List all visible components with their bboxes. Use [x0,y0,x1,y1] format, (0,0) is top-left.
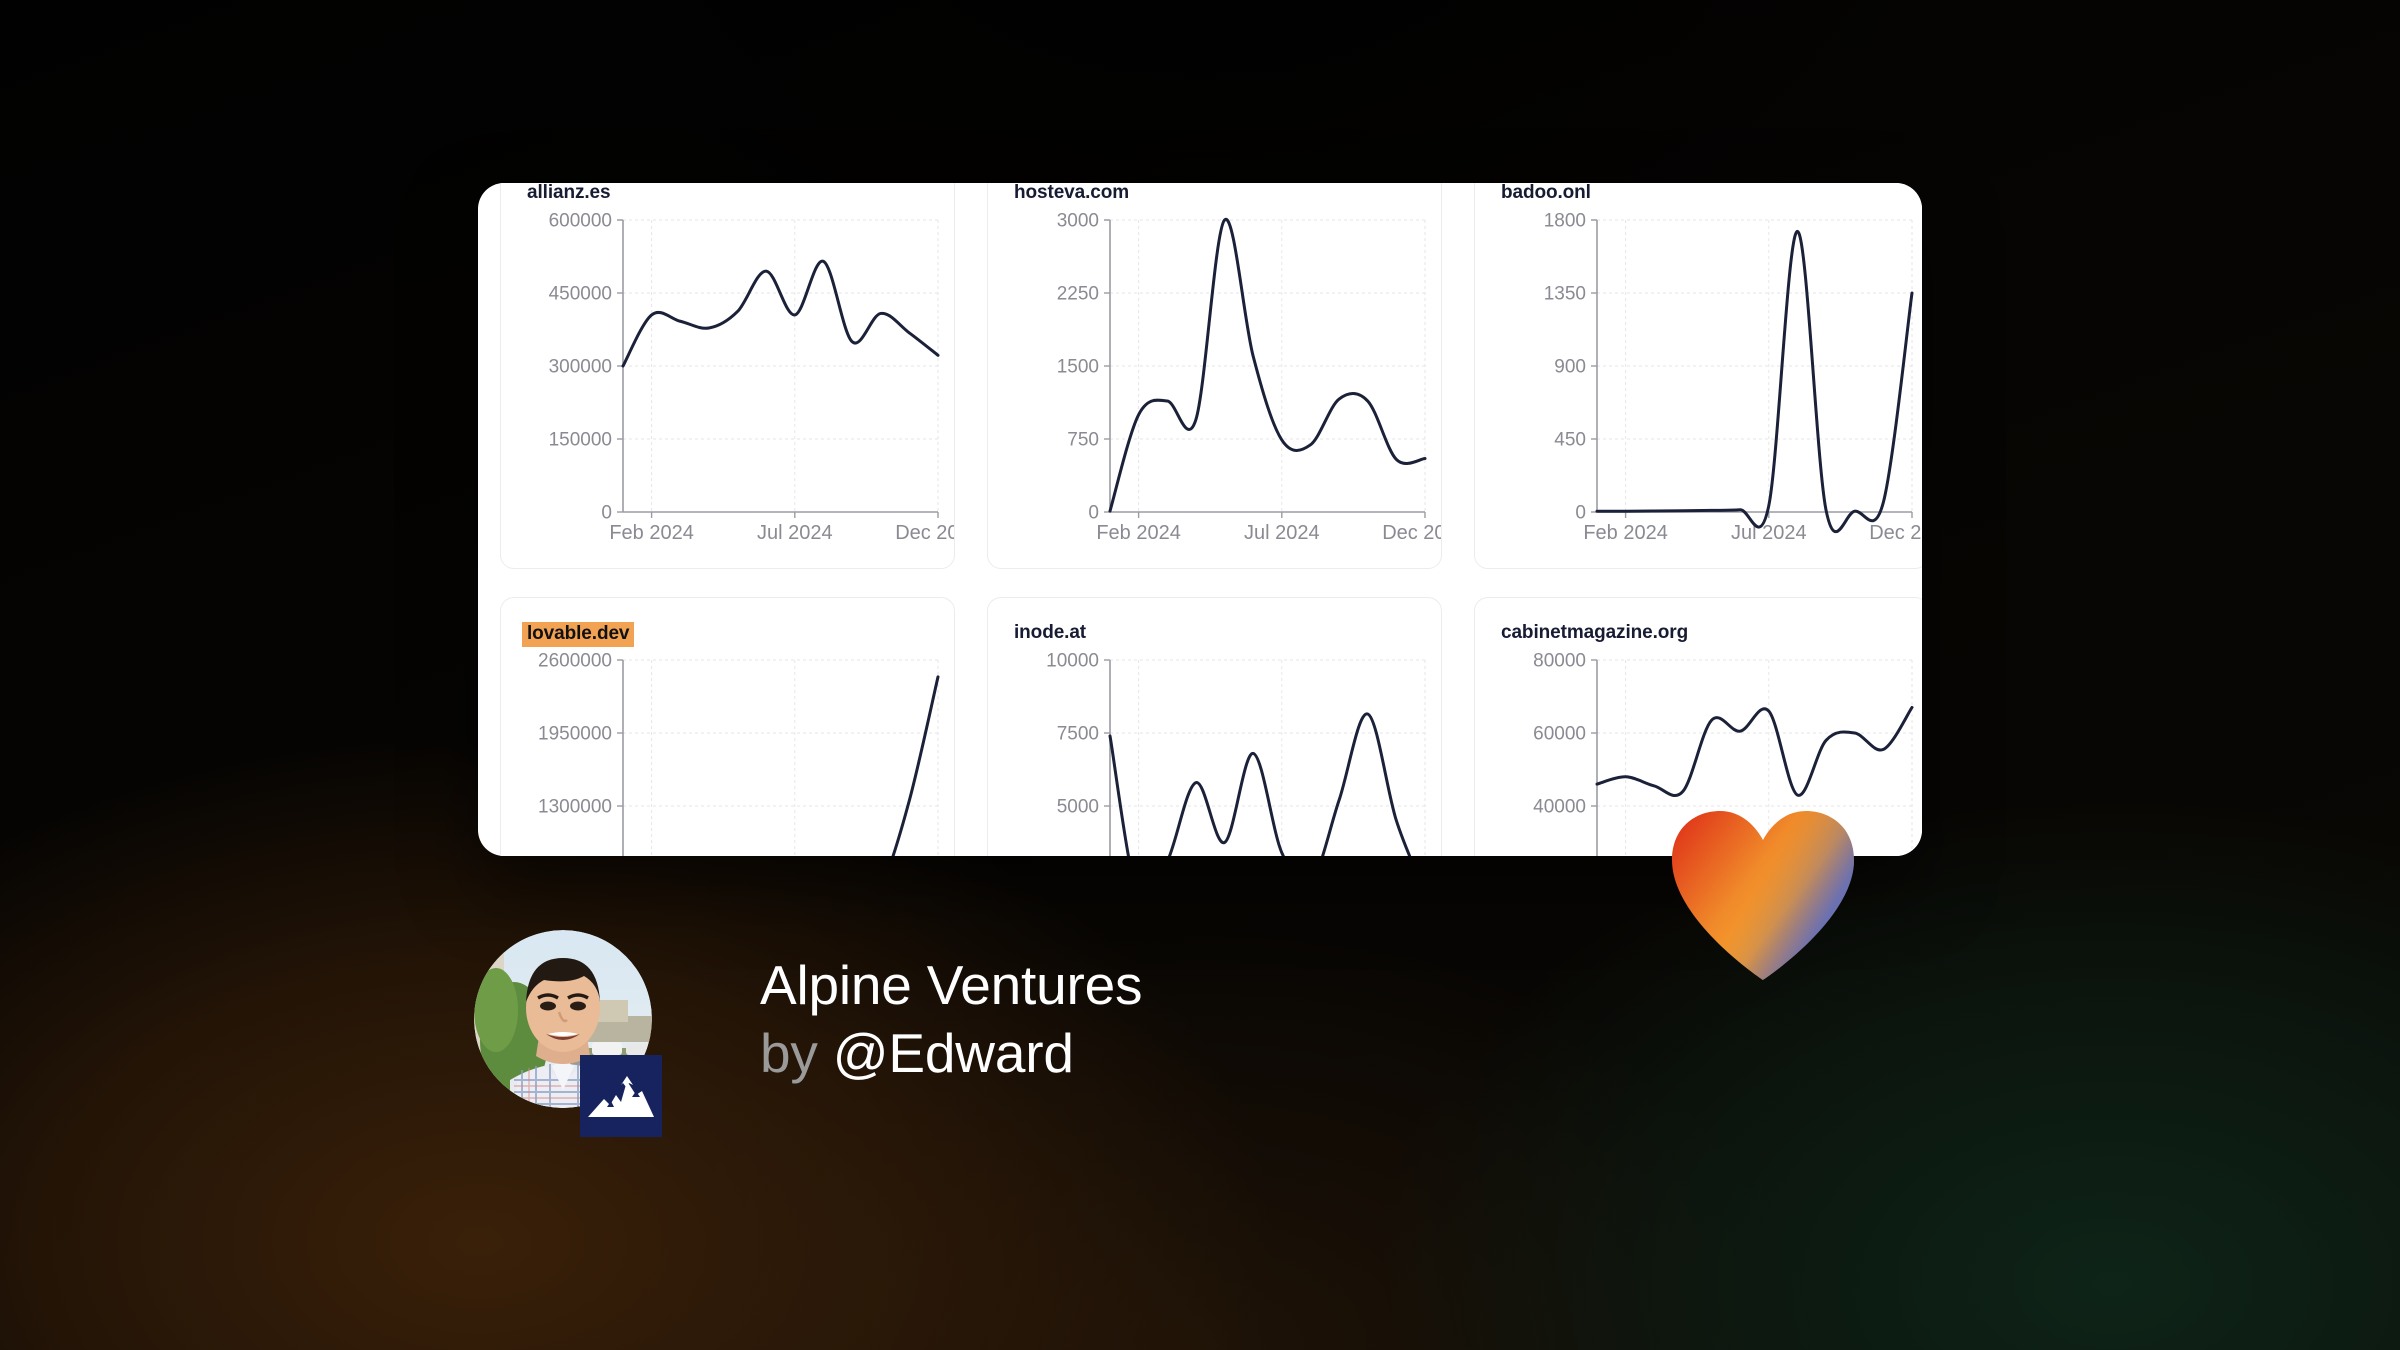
svg-text:0: 0 [1088,503,1099,524]
svg-text:Feb 2024: Feb 2024 [1583,522,1668,544]
chart-plot: 0750150022503000Feb 2024Jul 2024Dec 2024 [988,210,1442,560]
svg-text:600000: 600000 [549,211,612,232]
handle-label: @Edward [833,1022,1074,1084]
svg-text:750: 750 [1067,430,1099,451]
heart-icon [1668,808,1858,983]
svg-text:1800: 1800 [1544,211,1586,232]
svg-text:Dec 2024: Dec 2024 [895,522,955,544]
chart-panel[interactable]: lovable.dev650000130000019500002600000Fe… [500,597,955,856]
svg-text:Dec 2024: Dec 2024 [1869,522,1922,544]
svg-text:2600000: 2600000 [538,651,612,672]
svg-text:Jul 2024: Jul 2024 [757,522,833,544]
chart-title: badoo.onl [1493,183,1591,204]
svg-text:450: 450 [1554,430,1586,451]
chart-title: lovable.dev [522,622,634,647]
svg-text:1500: 1500 [1057,357,1099,378]
svg-text:Feb 2024: Feb 2024 [1096,522,1181,544]
chart-title: inode.at [1006,622,1086,644]
chart-grid: allianz.es0150000300000450000600000Feb 2… [500,183,1920,856]
svg-text:Jul 2024: Jul 2024 [1731,522,1807,544]
svg-text:Jul 2024: Jul 2024 [1244,522,1320,544]
chart-panel[interactable]: inode.at25005000750010000Feb 2024Jul 202… [987,597,1442,856]
byline: by @Edward [760,1022,1142,1085]
svg-text:2250: 2250 [1057,284,1099,305]
chart-plot: 045090013501800Feb 2024Jul 2024Dec 2024 [1475,210,1922,560]
svg-text:Dec 2024: Dec 2024 [1382,522,1442,544]
svg-text:3000: 3000 [1057,211,1099,232]
dashboard-card: allianz.es0150000300000450000600000Feb 2… [478,183,1922,856]
mountain-logo-badge [580,1055,662,1137]
svg-text:1350: 1350 [1544,284,1586,305]
svg-text:150000: 150000 [549,430,612,451]
svg-text:1950000: 1950000 [538,724,612,745]
chart-panel[interactable]: hosteva.com0750150022503000Feb 2024Jul 2… [987,183,1442,569]
svg-text:0: 0 [601,503,612,524]
chart-plot: 0150000300000450000600000Feb 2024Jul 202… [501,210,955,560]
chart-plot: 650000130000019500002600000Feb 2024Jul 2… [501,650,955,856]
chart-title: cabinetmagazine.org [1493,622,1688,644]
page-title: Alpine Ventures [760,954,1142,1017]
chart-panel[interactable]: allianz.es0150000300000450000600000Feb 2… [500,183,955,569]
chart-title: allianz.es [519,183,611,204]
chart-title: hosteva.com [1006,183,1129,204]
svg-text:0: 0 [1575,503,1586,524]
chart-plot: 25005000750010000Feb 2024Jul 2024Dec 202… [988,650,1442,856]
footer: Alpine Ventures by @Edward [474,930,1142,1108]
svg-text:80000: 80000 [1533,651,1586,672]
svg-text:900: 900 [1554,357,1586,378]
svg-text:300000: 300000 [549,357,612,378]
account-names: Alpine Ventures by @Edward [760,954,1142,1084]
chart-panel[interactable]: badoo.onl045090013501800Feb 2024Jul 2024… [1474,183,1922,569]
svg-text:450000: 450000 [549,284,612,305]
svg-text:Feb 2024: Feb 2024 [609,522,694,544]
svg-text:60000: 60000 [1533,724,1586,745]
svg-text:40000: 40000 [1533,797,1586,818]
svg-text:10000: 10000 [1046,651,1099,672]
svg-text:5000: 5000 [1057,797,1099,818]
svg-text:7500: 7500 [1057,724,1099,745]
by-label: by [760,1022,818,1084]
svg-text:1300000: 1300000 [538,797,612,818]
